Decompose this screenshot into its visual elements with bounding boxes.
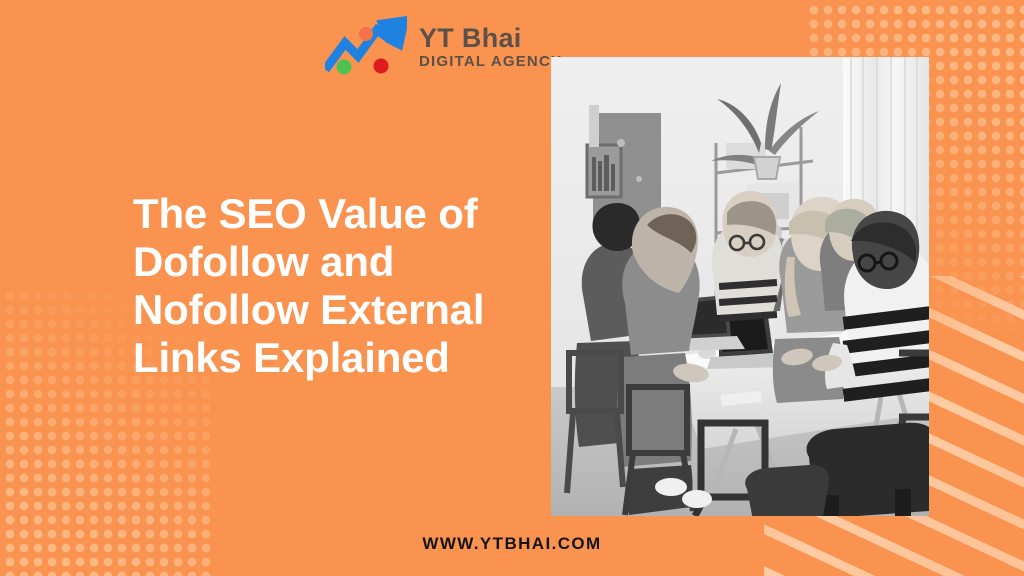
brand-name: YT Bhai [419, 24, 562, 52]
office-team-meeting-photo [551, 57, 929, 516]
growth-arrow-icon [325, 16, 407, 78]
footer-website-url: WWW.YTBHAI.COM [0, 534, 1024, 554]
page-title: The SEO Value of Dofollow and Nofollow E… [133, 190, 553, 382]
brand-tagline: DIGITAL AGENCY [419, 52, 562, 72]
brand-logo: YT Bhai DIGITAL AGENCY [325, 16, 562, 78]
social-post-canvas: YT Bhai DIGITAL AGENCY The SEO Value of … [0, 0, 1024, 576]
brand-logo-text: YT Bhai DIGITAL AGENCY [419, 22, 562, 73]
